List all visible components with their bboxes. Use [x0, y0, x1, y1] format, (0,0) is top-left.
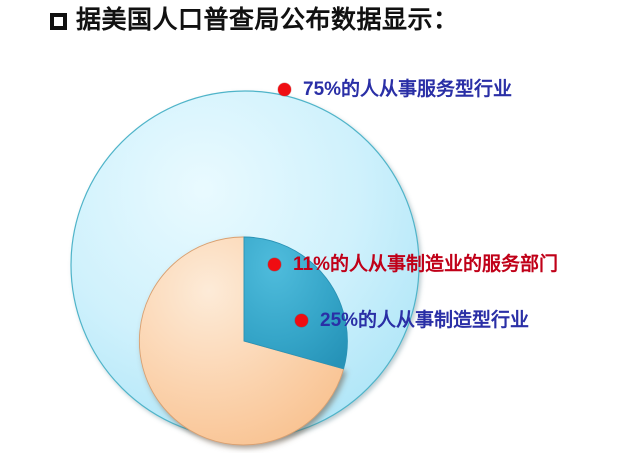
red-dot-icon: [295, 314, 308, 327]
callout-manufacture: 25%的人从事制造型行业: [295, 311, 529, 330]
slide-canvas: 据美国人口普查局公布数据显示：: [0, 0, 628, 453]
callout-manufacture-label: 25%的人从事制造型行业: [320, 311, 529, 330]
callout-services: 75%的人从事服务型行业: [278, 80, 512, 99]
callout-manufacturing-service-sector-label: 11%的人从事制造业的服务部门: [293, 255, 558, 274]
red-dot-icon: [268, 258, 281, 271]
red-dot-icon: [278, 83, 291, 96]
callout-manufacturing-service-sector: 11%的人从事制造业的服务部门: [268, 255, 558, 274]
chart-graphics: [0, 0, 628, 453]
callout-services-label: 75%的人从事服务型行业: [303, 80, 512, 99]
